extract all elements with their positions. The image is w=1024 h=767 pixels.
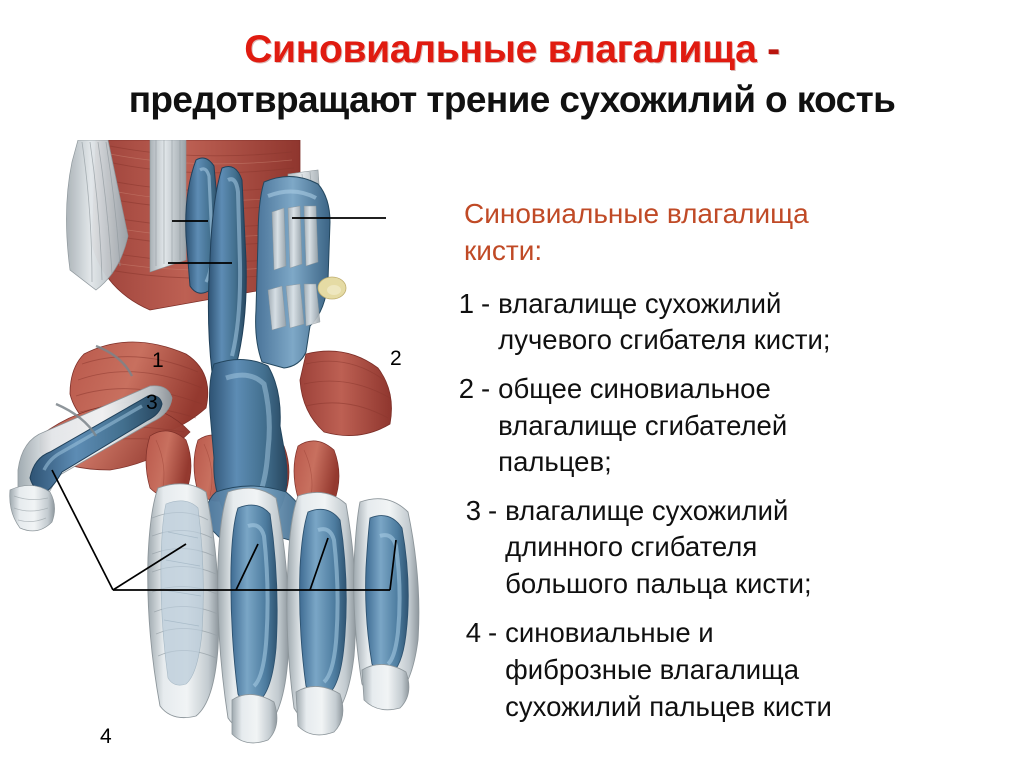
callout-label-1: 1 bbox=[152, 350, 164, 371]
legend-item-3-dash: - bbox=[481, 493, 505, 530]
finger-ring bbox=[287, 492, 356, 734]
title-dash: - bbox=[757, 28, 780, 71]
carpal-cartilage bbox=[318, 277, 346, 299]
finger-middle bbox=[218, 488, 289, 743]
callout-label-2: 2 bbox=[390, 348, 402, 369]
legend-item-1-number: 1 bbox=[452, 286, 474, 323]
title-red-text: Синовиальные влагалища bbox=[244, 28, 756, 71]
callout-label-4: 4 bbox=[100, 726, 112, 747]
legend-item-1-text: влагалище сухожилий лучевого сгибателя к… bbox=[498, 286, 992, 359]
finger-little bbox=[354, 499, 419, 710]
slide-root: Синовиальные влагалища - предотвращают т… bbox=[0, 0, 1024, 767]
hand-anatomy-illustration: 1 2 3 4 bbox=[0, 140, 452, 767]
finger-index bbox=[148, 484, 219, 718]
legend-item-1-dash: - bbox=[474, 286, 498, 323]
legend-item-1: 1 - влагалище сухожилий лучевого сгибате… bbox=[452, 286, 992, 359]
sheath-common-flexors bbox=[256, 176, 330, 368]
slide-title-block: Синовиальные влагалища - предотвращают т… bbox=[0, 30, 1024, 119]
title-line-red: Синовиальные влагалища - bbox=[0, 30, 1024, 71]
legend-item-4: 4 - синовиальные и фиброзные влагалища с… bbox=[452, 615, 992, 725]
legend-item-2-text: общее синовиальное влагалище сгибателей … bbox=[498, 371, 992, 481]
legend-item-3: 3 - влагалище сухожилий длинного сгибате… bbox=[452, 493, 992, 603]
title-line-black: предотвращают трение сухожилий о кость bbox=[0, 81, 1024, 119]
legend-item-4-dash: - bbox=[481, 615, 505, 652]
legend-item-3-number: 3 bbox=[459, 493, 481, 530]
legend-item-2: 2 - общее синовиальное влагалище сгибате… bbox=[452, 371, 992, 481]
legend-item-2-dash: - bbox=[474, 371, 498, 408]
legend-item-4-number: 4 bbox=[459, 615, 481, 652]
legend-item-2-number: 2 bbox=[452, 371, 474, 408]
legend-item-4-text: синовиальные и фиброзные влагалища сухож… bbox=[505, 615, 992, 725]
legend-panel: Синовиальные влагалища кисти: 1 - влагал… bbox=[452, 196, 992, 725]
callout-label-3: 3 bbox=[146, 392, 158, 413]
legend-item-3-text: влагалище сухожилий длинного сгибателя б… bbox=[505, 493, 992, 603]
legend-header: Синовиальные влагалища кисти: bbox=[452, 196, 992, 270]
